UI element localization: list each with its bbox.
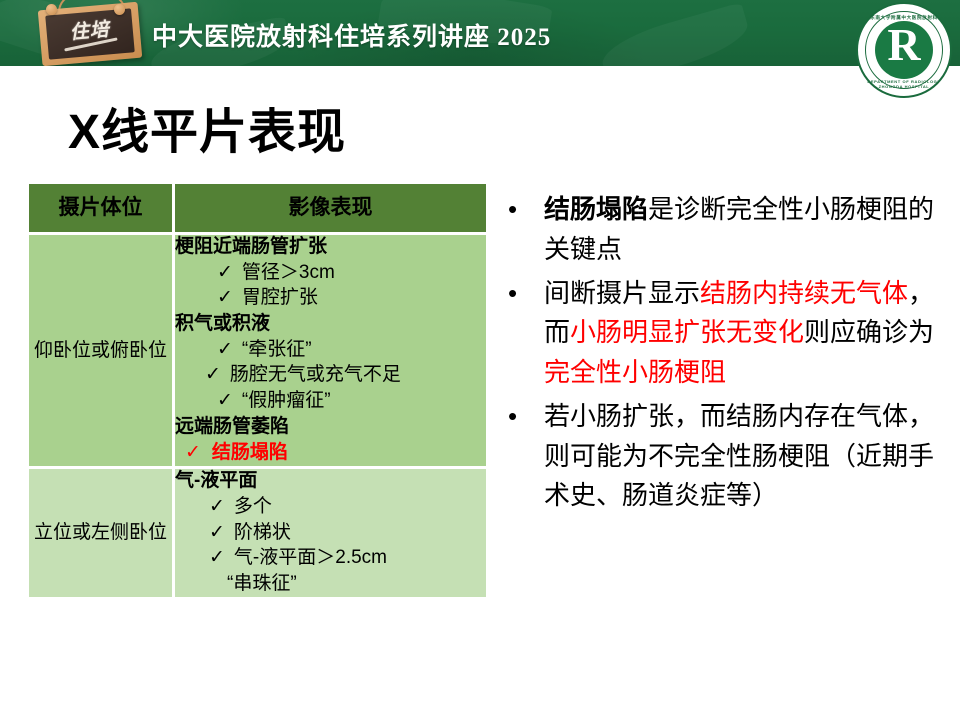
chalkboard-sign-icon: 住培 — [32, 0, 150, 66]
check-icon: ✓ — [185, 442, 201, 463]
finding-item-label: 多个 — [234, 496, 272, 517]
column-header-findings: 影像表现 — [175, 184, 486, 232]
finding-item-label: 气-液平面＞2.5cm — [234, 547, 387, 568]
cell-findings: 气-液平面 ✓多个 ✓阶梯状 ✓气-液平面＞2.5cm “串珠征” — [175, 469, 486, 596]
check-icon: ✓ — [209, 547, 225, 568]
key-points-list: • 结肠塌陷是诊断完全性小肠梗阻的关键点 • 间断摄片显示结肠内持续无气体，而小… — [498, 190, 950, 520]
page-title: X线平片表现 — [68, 92, 346, 162]
finding-item: ✓“牵张征” — [175, 338, 486, 363]
list-item-text: 若小肠扩张，而结肠内存在气体，则可能为不完全性肠梗阻（近期手术史、肠道炎症等） — [544, 401, 934, 511]
cell-position: 立位或左侧卧位 — [29, 469, 172, 596]
text-run: 则应确诊为 — [804, 317, 934, 347]
finding-item-highlighted: ✓结肠塌陷 — [175, 441, 486, 466]
finding-group-heading: 梗阻近端肠管扩张 — [175, 235, 486, 260]
check-icon: ✓ — [217, 390, 233, 411]
header-band: 住培 中大医院放射科住培系列讲座 2025 — [0, 0, 960, 66]
bullet-icon: • — [508, 397, 517, 437]
finding-item-label: 阶梯状 — [234, 522, 291, 543]
list-item: • 结肠塌陷是诊断完全性小肠梗阻的关键点 — [498, 190, 950, 270]
check-icon: ✓ — [217, 262, 233, 283]
table-body: 仰卧位或俯卧位 梗阻近端肠管扩张 ✓管径＞3cm ✓胃腔扩张 积气或积液 ✓“牵… — [29, 235, 486, 597]
sign-knob-right — [114, 4, 125, 15]
list-item: • 若小肠扩张，而结肠内存在气体，则可能为不完全性肠梗阻（近期手术史、肠道炎症等… — [498, 397, 950, 516]
cell-position: 仰卧位或俯卧位 — [29, 235, 172, 466]
finding-group-heading: 远端肠管萎陷 — [175, 415, 486, 440]
check-icon: ✓ — [217, 287, 233, 308]
finding-item-note: “串珠征” — [175, 572, 486, 597]
table-row: 仰卧位或俯卧位 梗阻近端肠管扩张 ✓管径＞3cm ✓胃腔扩张 积气或积液 ✓“牵… — [29, 235, 486, 466]
xray-findings-table: 摄片体位 影像表现 仰卧位或俯卧位 梗阻近端肠管扩张 ✓管径＞3cm ✓胃腔扩张… — [26, 181, 489, 600]
finding-item-label: 结肠塌陷 — [212, 442, 288, 463]
bullet-icon: • — [508, 274, 517, 314]
check-icon: ✓ — [205, 364, 221, 385]
sign-knob-left — [46, 4, 57, 15]
finding-item: ✓“假肿瘤征” — [175, 389, 486, 414]
finding-group-heading: 气-液平面 — [175, 469, 486, 494]
check-icon: ✓ — [209, 522, 225, 543]
radiology-department-logo-icon: 东南大学附属中大医院放射科 DEPARTMENT OF RADIOLOGY ZH… — [856, 2, 956, 102]
text-run: 间断摄片显示 — [544, 278, 700, 308]
table-row: 立位或左侧卧位 气-液平面 ✓多个 ✓阶梯状 ✓气-液平面＞2.5cm “串珠征… — [29, 469, 486, 596]
text-run: 结肠塌陷 — [544, 194, 648, 224]
finding-item: ✓气-液平面＞2.5cm — [175, 546, 486, 571]
finding-item: ✓阶梯状 — [175, 521, 486, 546]
bullet-icon: • — [508, 190, 517, 230]
finding-item-label: 胃腔扩张 — [242, 287, 318, 308]
finding-item-label: 肠腔无气或充气不足 — [230, 364, 401, 385]
text-run: 完全性小肠梗阻 — [544, 357, 726, 387]
sign-board: 住培 — [45, 8, 135, 59]
text-run: 结肠内持续无气体 — [700, 278, 908, 308]
list-item-text: 结肠塌陷是诊断完全性小肠梗阻的关键点 — [544, 194, 934, 264]
finding-group-heading: 积气或积液 — [175, 312, 486, 337]
finding-item: ✓管径＞3cm — [175, 261, 486, 286]
finding-item-label: 管径＞3cm — [242, 262, 335, 283]
finding-item: ✓肠腔无气或充气不足 — [175, 363, 486, 388]
text-run: 若小肠扩张，而结肠内存在气体，则可能为不完全性肠梗阻（近期手术史、肠道炎症等） — [544, 401, 934, 511]
finding-item-label: “假肿瘤征” — [242, 390, 331, 411]
sign-label: 住培 — [46, 12, 134, 46]
list-item: • 间断摄片显示结肠内持续无气体，而小肠明显扩张无变化则应确诊为完全性小肠梗阻 — [498, 274, 950, 393]
text-run: 小肠明显扩张无变化 — [570, 317, 804, 347]
list-item-text: 间断摄片显示结肠内持续无气体，而小肠明显扩张无变化则应确诊为完全性小肠梗阻 — [544, 278, 934, 388]
logo-monogram: R — [875, 16, 933, 74]
cell-findings: 梗阻近端肠管扩张 ✓管径＞3cm ✓胃腔扩张 积气或积液 ✓“牵张征” ✓肠腔无… — [175, 235, 486, 466]
check-icon: ✓ — [217, 339, 233, 360]
column-header-position: 摄片体位 — [29, 184, 172, 232]
table-header-row: 摄片体位 影像表现 — [29, 184, 486, 232]
finding-item: ✓多个 — [175, 495, 486, 520]
logo-arc-text-bottom: DEPARTMENT OF RADIOLOGY ZHONGDA HOSPITAL — [856, 79, 952, 89]
finding-item: ✓胃腔扩张 — [175, 286, 486, 311]
lecture-series-title: 中大医院放射科住培系列讲座 2025 — [152, 17, 551, 53]
table-head: 摄片体位 影像表现 — [29, 184, 486, 232]
decorative-leaf — [597, 2, 753, 66]
check-icon: ✓ — [209, 496, 225, 517]
finding-item-label: “牵张征” — [242, 339, 312, 360]
